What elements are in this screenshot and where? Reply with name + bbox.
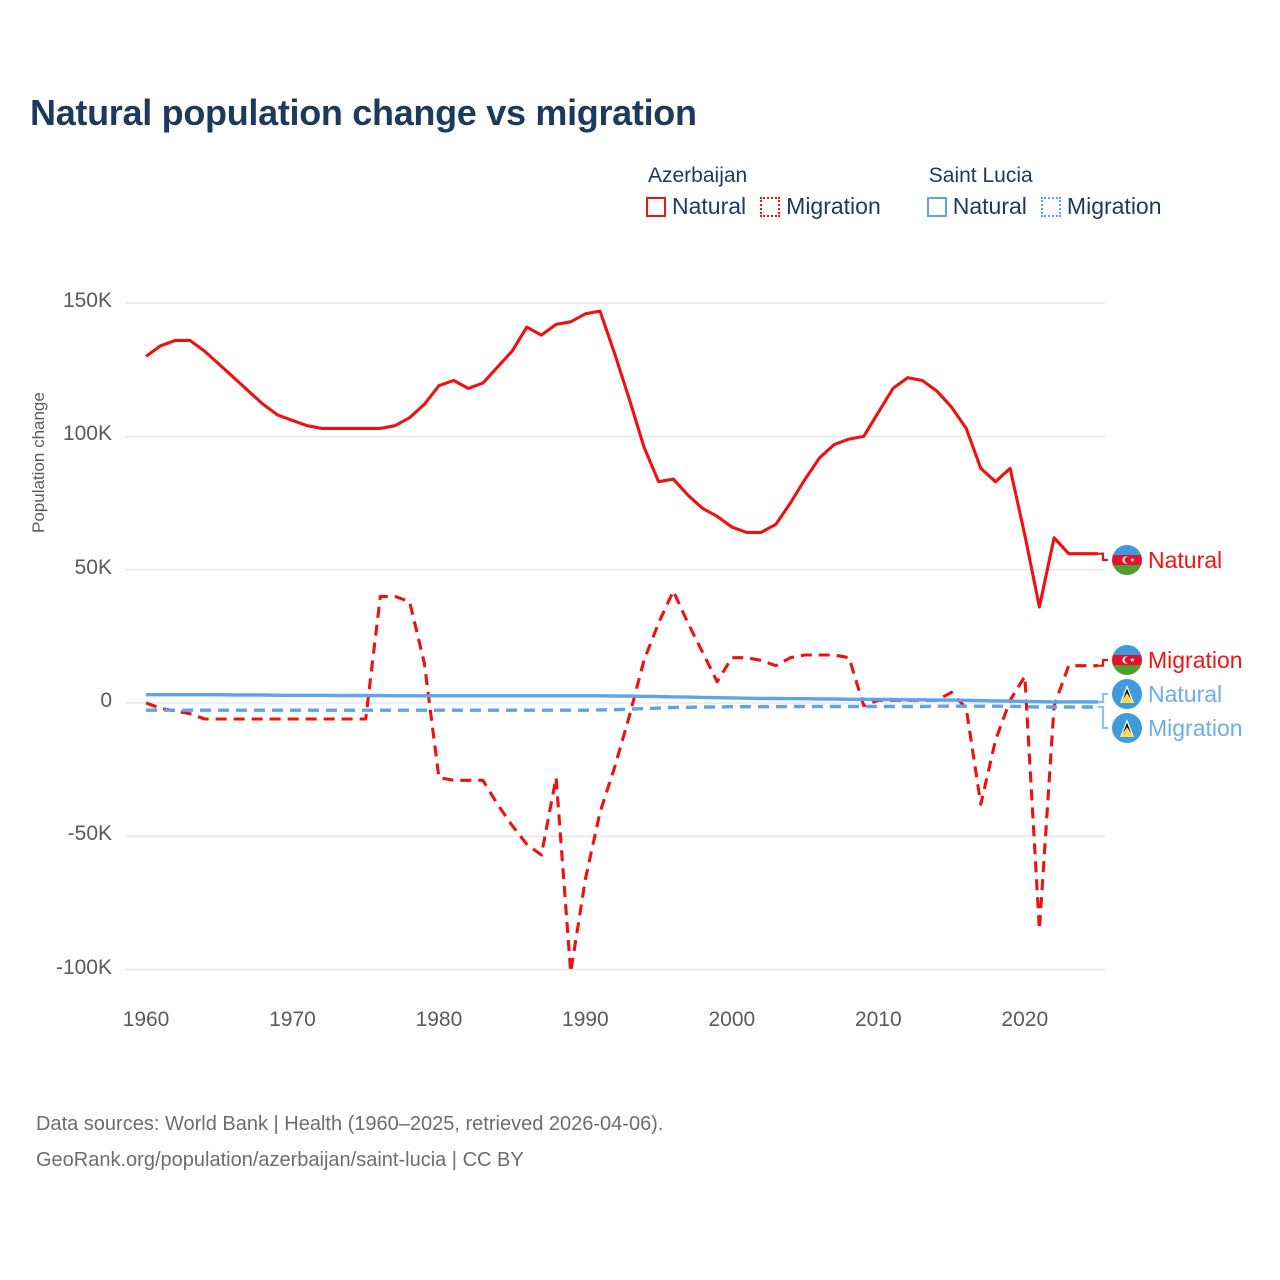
x-axis-tick-label: 2010	[833, 1008, 923, 1032]
x-axis-tick-label: 1970	[247, 1008, 337, 1032]
end-label-azerbaijan-migration[interactable]: Migration	[1112, 645, 1243, 675]
end-label-text: Natural	[1148, 681, 1222, 708]
footer: Data sources: World Bank | Health (1960–…	[36, 1106, 663, 1178]
gridlines	[125, 303, 1105, 970]
end-label-connector	[1098, 554, 1108, 560]
end-label-azerbaijan-natural[interactable]: Natural	[1112, 545, 1222, 575]
y-axis-tick-label: 100K	[22, 422, 112, 446]
footer-attribution: GeoRank.org/population/azerbaijan/saint-…	[36, 1142, 663, 1178]
chart-container: Natural population change vs migration A…	[0, 0, 1280, 1280]
series-line-saint-lucia-natural	[146, 695, 1098, 702]
x-axis-tick-label: 2000	[687, 1008, 777, 1032]
end-label-saint-lucia-natural[interactable]: Natural	[1112, 679, 1222, 709]
azerbaijan-flag-icon	[1112, 645, 1142, 675]
plot-area: Population change 150K100K50K0-50K-100K …	[0, 0, 1280, 1280]
azerbaijan-flag-icon	[1112, 545, 1142, 575]
y-axis-tick-label: 150K	[22, 289, 112, 313]
plot-svg	[0, 0, 1280, 1280]
series-lines	[146, 311, 1098, 972]
end-label-connector	[1098, 660, 1108, 666]
x-axis-tick-label: 1980	[394, 1008, 484, 1032]
x-axis-tick-label: 2020	[980, 1008, 1070, 1032]
end-label-saint-lucia-migration[interactable]: Migration	[1112, 713, 1243, 743]
end-label-text: Migration	[1148, 715, 1243, 742]
end-label-connector	[1098, 707, 1108, 728]
series-line-saint-lucia-migration	[146, 706, 1098, 710]
x-axis-tick-label: 1960	[101, 1008, 191, 1032]
y-axis-tick-label: 0	[22, 689, 112, 713]
footer-data-sources: Data sources: World Bank | Health (1960–…	[36, 1106, 663, 1142]
y-axis-tick-label: -100K	[22, 956, 112, 980]
y-axis-tick-label: -50K	[22, 822, 112, 846]
end-label-text: Natural	[1148, 547, 1222, 574]
x-axis-tick-label: 1990	[540, 1008, 630, 1032]
end-label-connectors	[1098, 554, 1108, 728]
y-axis-tick-label: 50K	[22, 556, 112, 580]
saint-lucia-flag-icon	[1112, 713, 1142, 743]
end-label-text: Migration	[1148, 647, 1243, 674]
end-label-connector	[1098, 694, 1108, 702]
series-line-azerbaijan-migration	[146, 591, 1098, 972]
saint-lucia-flag-icon	[1112, 679, 1142, 709]
series-line-azerbaijan-natural	[146, 311, 1098, 607]
